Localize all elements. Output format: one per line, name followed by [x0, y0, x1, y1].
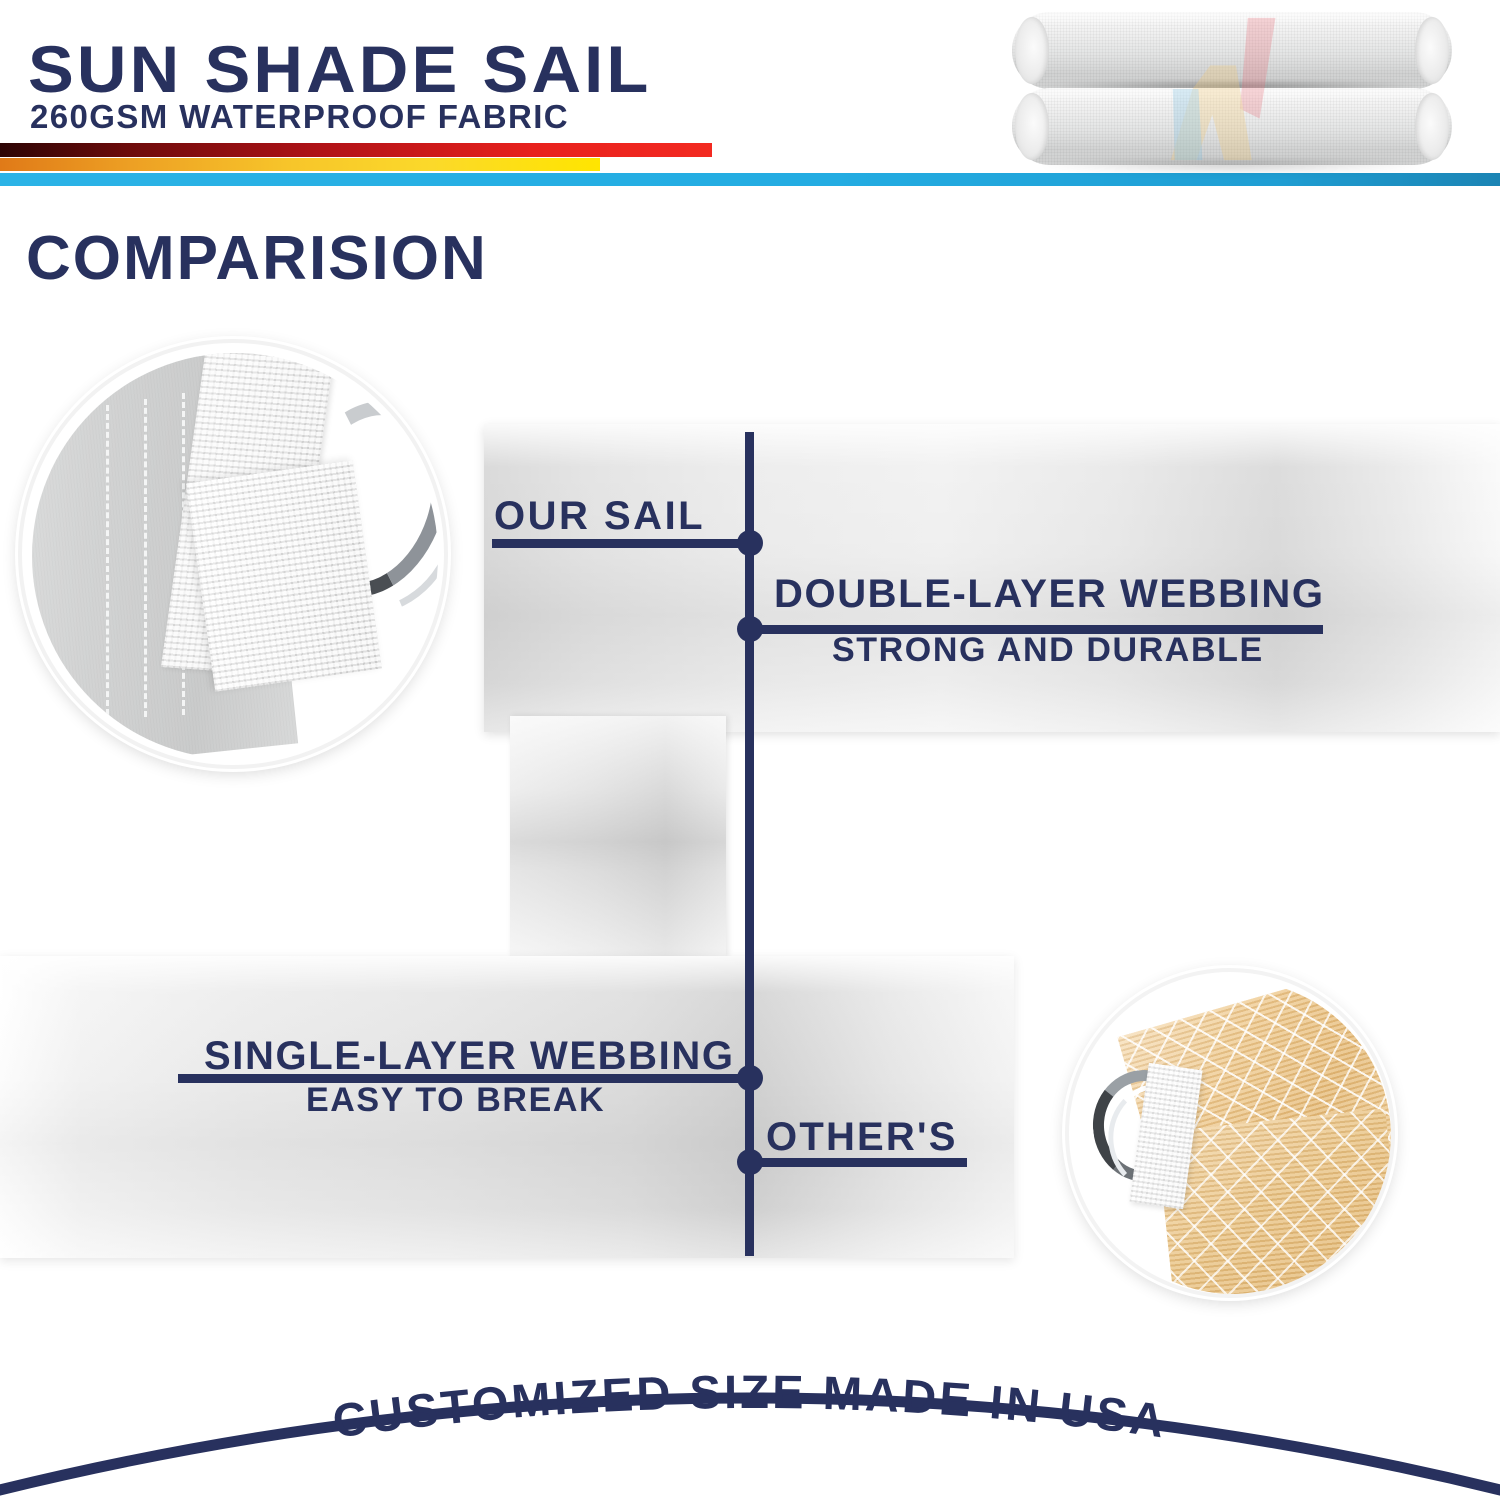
node-dot-others: [737, 1149, 763, 1175]
accent-stripe-red: [0, 143, 712, 157]
webbing-layer-outer: [186, 460, 382, 691]
photo-circle-our-sail-image: [32, 353, 438, 759]
label-easy-to-break: EASY TO BREAK: [306, 1083, 605, 1117]
label-double-layer-webbing: DOUBLE-LAYER WEBBING: [774, 574, 1325, 614]
photo-circle-our-sail-detail: [18, 339, 448, 769]
accent-stripe-blue: [0, 173, 1500, 186]
label-strong-and-durable: STRONG AND DURABLE: [832, 633, 1264, 667]
fabric-roll-bottom: [1012, 88, 1452, 165]
leader-line-others: [745, 1158, 967, 1167]
roll-shadow-lower: [1044, 160, 1420, 173]
node-dot-single-layer: [737, 1065, 763, 1091]
page-title: SUN SHADE SAIL: [28, 36, 651, 102]
leader-line-our-sail: [492, 539, 754, 548]
footer-banner-text: CUSTOMIZED SIZE MADE IN USA: [329, 1365, 1170, 1448]
stitch-line-2: [144, 399, 147, 717]
node-dot-our-sail: [737, 530, 763, 556]
photo-circle-others-detail: [1065, 968, 1395, 1298]
footer-arc-banner: CUSTOMIZED SIZE MADE IN USA: [0, 1330, 1500, 1500]
label-others: OTHER'S: [766, 1117, 958, 1157]
label-our-sail: OUR SAIL: [494, 496, 705, 536]
panel-connector-background: [510, 716, 726, 958]
infographic-canvas: SUN SHADE SAIL 260GSM WATERPROOF FABRIC …: [0, 0, 1500, 1500]
node-dot-double-layer: [737, 616, 763, 642]
fabric-roll-top: [1012, 12, 1452, 89]
label-single-layer-webbing: SINGLE-LAYER WEBBING: [204, 1036, 735, 1076]
stitch-line-1: [106, 405, 109, 715]
photo-circle-others-image: [1077, 980, 1391, 1294]
section-heading-comparison: COMPARISION: [26, 228, 488, 290]
page-subtitle: 260GSM WATERPROOF FABRIC: [30, 100, 569, 133]
product-photo-fabric-rolls: [1012, 4, 1452, 174]
accent-stripe-yellow: [0, 158, 600, 171]
